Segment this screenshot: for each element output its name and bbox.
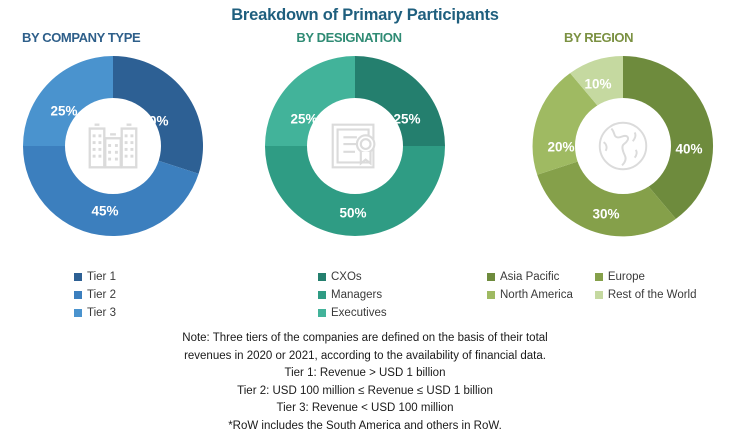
legend-swatch-icon-tier-3 [74, 309, 82, 317]
certificate-icon [324, 115, 386, 177]
legend-item-north-america[interactable]: North America [487, 286, 573, 304]
legend-swatch-icon-rest-of-the-world [595, 291, 603, 299]
legend-label-tier-2: Tier 2 [87, 289, 116, 301]
note-line-2: revenues in 2020 or 2021, according to t… [0, 348, 730, 366]
slice-label-cxos: 25% [393, 112, 420, 127]
legend-swatch-icon-tier-1 [74, 273, 82, 281]
donut-chart-region: 40% 30% 20% 10% [528, 51, 718, 241]
legend-item-rest-of-the-world[interactable]: Rest of the World [595, 286, 697, 304]
note-line-4: Tier 2: USD 100 million ≤ Revenue ≤ USD … [0, 383, 730, 401]
note-line-6: *RoW includes the South America and othe… [0, 418, 730, 436]
legend-region: Asia Pacific North America Europe Rest o… [487, 268, 697, 304]
legend-swatch-icon-asia-pacific [487, 273, 495, 281]
note-line-3: Tier 1: Revenue > USD 1 billion [0, 365, 730, 383]
legend-label-tier-1: Tier 1 [87, 271, 116, 283]
chart-title-company-type: BY COMPANY TYPE [22, 30, 242, 45]
legend-item-cxos[interactable]: CXOs [318, 268, 387, 286]
chart-panel-company-type: BY COMPANY TYPE [22, 30, 242, 241]
note-line-5: Tier 3: Revenue < USD 100 million [0, 400, 730, 418]
slice-label-rest-of-the-world: 10% [584, 77, 611, 92]
chart-panel-region: BY REGION [500, 30, 730, 241]
slice-label-managers: 50% [339, 206, 366, 221]
legend-item-tier-1[interactable]: Tier 1 [74, 268, 116, 286]
globe-icon [592, 115, 654, 177]
slice-label-tier-3: 25% [50, 104, 77, 119]
buildings-icon [82, 115, 144, 177]
donut-chart-company-type: 30% 45% 25% [18, 51, 208, 241]
slice-label-north-america: 20% [547, 140, 574, 155]
donut-chart-designation: 25% 50% 25% [260, 51, 450, 241]
note-line-1: Note: Three tiers of the companies are d… [0, 330, 730, 348]
legend-item-europe[interactable]: Europe [595, 268, 697, 286]
legend-item-tier-3[interactable]: Tier 3 [74, 304, 116, 322]
chart-panel-designation: BY DESIGNATION [252, 30, 482, 241]
legend-item-managers[interactable]: Managers [318, 286, 387, 304]
legend-label-rest-of-the-world: Rest of the World [608, 289, 697, 301]
legend-label-tier-3: Tier 3 [87, 307, 116, 319]
legend-label-europe: Europe [608, 271, 645, 283]
slice-label-tier-2: 45% [91, 204, 118, 219]
legend-swatch-icon-north-america [487, 291, 495, 299]
legend-region-column-right: Europe Rest of the World [595, 268, 697, 304]
legend-designation: CXOs Managers Executives [318, 268, 387, 322]
legend-item-tier-2[interactable]: Tier 2 [74, 286, 116, 304]
legend-item-executives[interactable]: Executives [318, 304, 387, 322]
legend-label-asia-pacific: Asia Pacific [500, 271, 559, 283]
legend-region-column-left: Asia Pacific North America [487, 268, 573, 304]
chart-title-region: BY REGION [500, 30, 730, 45]
legend-swatch-icon-executives [318, 309, 326, 317]
legend-label-managers: Managers [331, 289, 382, 301]
slice-label-tier-1: 30% [141, 114, 168, 129]
page-title: Breakdown of Primary Participants [0, 6, 730, 25]
legend-label-executives: Executives [331, 307, 387, 319]
legend-swatch-icon-cxos [318, 273, 326, 281]
legend-label-north-america: North America [500, 289, 573, 301]
chart-title-designation: BY DESIGNATION [252, 30, 482, 45]
slice-label-asia-pacific: 40% [675, 142, 702, 157]
slice-label-europe: 30% [592, 207, 619, 222]
infographic-root: Breakdown of Primary Participants BY COM… [0, 0, 730, 444]
legend-swatch-icon-tier-2 [74, 291, 82, 299]
legend-item-asia-pacific[interactable]: Asia Pacific [487, 268, 573, 286]
note-block: Note: Three tiers of the companies are d… [0, 330, 730, 435]
legend-swatch-icon-europe [595, 273, 603, 281]
legend-label-cxos: CXOs [331, 271, 362, 283]
legend-company-type: Tier 1 Tier 2 Tier 3 [74, 268, 116, 322]
slice-label-executives: 25% [290, 112, 317, 127]
legend-swatch-icon-managers [318, 291, 326, 299]
